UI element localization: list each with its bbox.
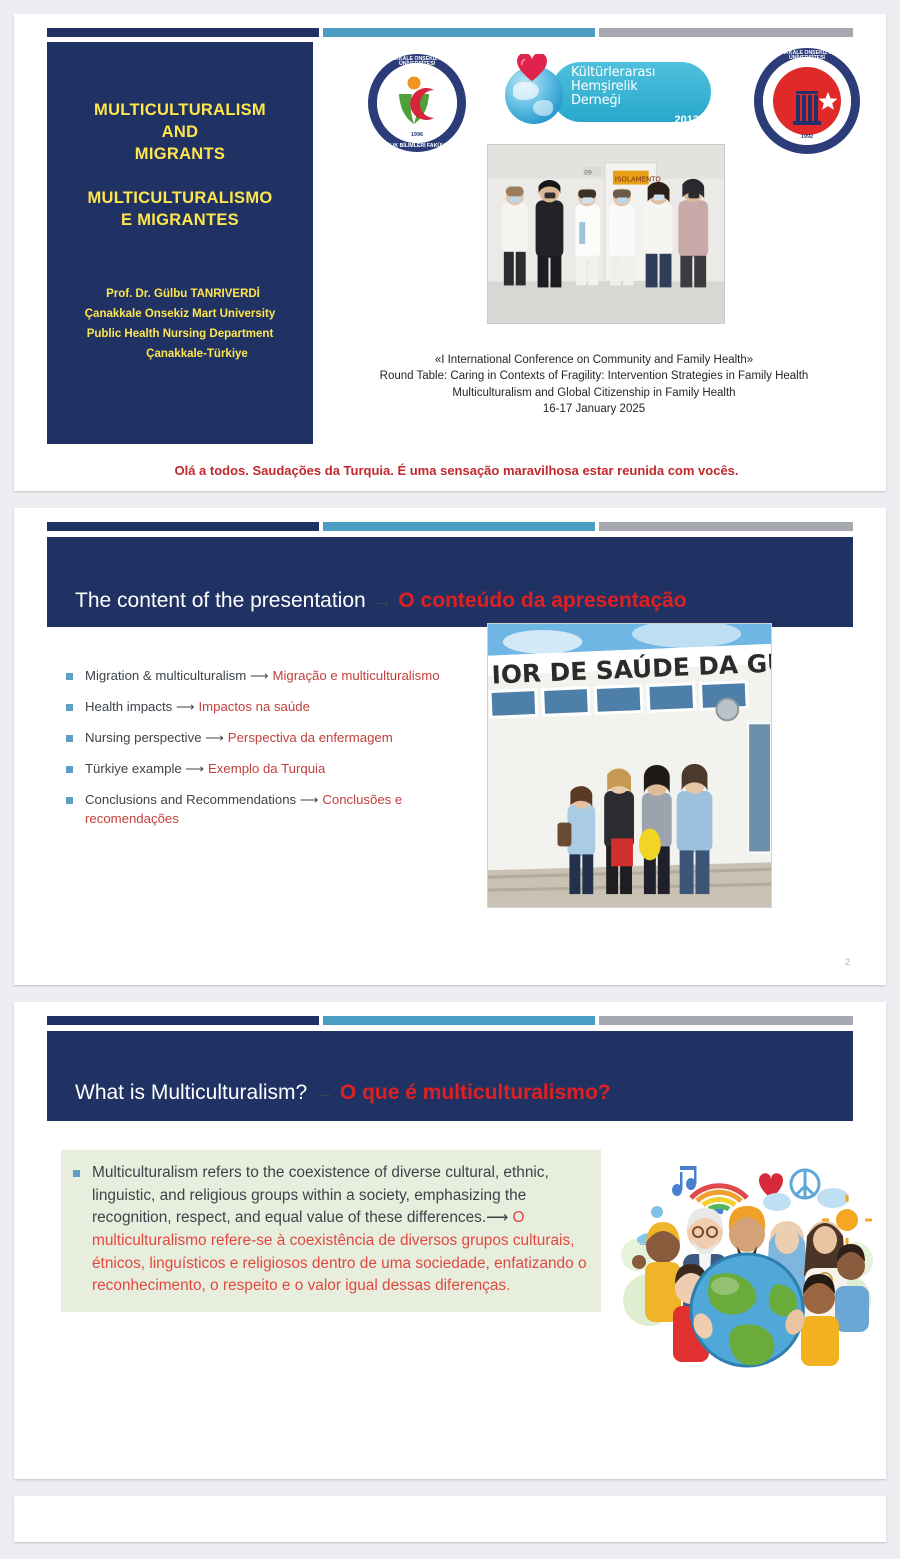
slide-title: What is Multiculturalism? → O que é mult…: [47, 1081, 853, 1105]
bullet-square-icon: [73, 1170, 80, 1177]
decorative-top-bars: [47, 28, 853, 37]
arrow-icon: ⟶: [205, 730, 228, 745]
seal-emblem: [763, 57, 851, 145]
top-bar-gray: [599, 1016, 853, 1025]
bullet-english: Conclusions and Recommendations: [85, 792, 300, 807]
definition-block: Multiculturalism refers to the coexisten…: [61, 1150, 601, 1312]
slide-header-band: The content of the presentation → O cont…: [47, 537, 853, 627]
author-department: Public Health Nursing Department: [61, 324, 299, 344]
multicultural-people-globe-illustration: ...: [619, 1150, 873, 1384]
slide-4-partial[interactable]: [14, 1496, 886, 1542]
top-bar-gray: [599, 28, 853, 37]
slide-header-band: What is Multiculturalism? → O que é mult…: [47, 1031, 853, 1121]
list-item: Migration & multiculturalism ⟶ Migração …: [66, 666, 486, 685]
top-bar-blue: [323, 1016, 595, 1025]
slide-3[interactable]: What is Multiculturalism? → O que é mult…: [14, 1002, 886, 1479]
top-bar-navy: [47, 1016, 319, 1025]
bullet-english: Türkiye example: [85, 761, 185, 776]
bullet-portuguese: Perspectiva da enfermagem: [228, 730, 393, 745]
title-panel: MULTICULTURALISM AND MIGRANTS MULTICULTU…: [47, 42, 313, 444]
association-name: Kültürlerarası Hemşirelik Derneği: [571, 66, 655, 108]
bullet-square-icon: [66, 735, 73, 742]
clinic-group-photo: ISOLAMENTO 09: [488, 145, 724, 323]
seal-year: 1992: [754, 134, 860, 140]
list-item-text: Health impacts ⟶ Impactos na saúde: [85, 697, 310, 716]
slide-title-portuguese: O conteúdo da apresentação: [398, 589, 686, 612]
list-item: Nursing perspective ⟶ Perspectiva da enf…: [66, 728, 486, 747]
bullet-portuguese: Exemplo da Turquia: [208, 761, 325, 776]
association-line: Kültürlerarası: [571, 66, 655, 80]
svg-text:09: 09: [584, 170, 592, 177]
title-english: MULTICULTURALISM AND MIGRANTS: [61, 100, 299, 166]
decorative-top-bars: [47, 1016, 853, 1025]
title-portuguese: MULTICULTURALISMO E MIGRANTES: [61, 188, 299, 232]
content-bullet-list: Migration & multiculturalism ⟶ Migração …: [66, 666, 486, 840]
arrow-icon: ⟶: [176, 699, 199, 714]
bullet-square-icon: [66, 797, 73, 804]
diversity-illustration: ...: [619, 1150, 873, 1384]
author-university: Çanakkale Onsekiz Mart University: [61, 304, 299, 324]
bullet-portuguese: Impactos na saúde: [198, 699, 309, 714]
top-bar-blue: [323, 28, 595, 37]
seal-emblem: [377, 63, 457, 143]
top-bar-gray: [599, 522, 853, 531]
definition-english: Multiculturalism refers to the coexisten…: [92, 1164, 549, 1226]
slide-title-english: What is Multiculturalism?: [75, 1081, 313, 1104]
association-line: Hemşirelik: [571, 80, 655, 94]
conference-line: Round Table: Caring in Contexts of Fragi…: [314, 368, 874, 384]
university-seal-logo: ÇANAKKALE ONSEKİZ MART ÜNİVERSİTESİ: [754, 48, 860, 154]
author-name: Prof. Dr. Gülbu TANRIVERDİ: [61, 284, 299, 304]
list-item-text: Nursing perspective ⟶ Perspectiva da enf…: [85, 728, 393, 747]
bullet-english: Nursing perspective: [85, 730, 205, 745]
slide-title-english: The content of the presentation: [75, 589, 372, 612]
health-centre-photo: IOR DE SAÚDE DA GUARD: [487, 623, 772, 908]
bullet-portuguese: Migração e multiculturalismo: [272, 668, 439, 683]
title-line: MIGRANTS: [61, 144, 299, 166]
bullet-square-icon: [66, 766, 73, 773]
arrow-icon: ⟶: [300, 792, 323, 807]
list-item: Health impacts ⟶ Impactos na saúde: [66, 697, 486, 716]
association-logo: Kültürlerarası Hemşirelik Derneği 2013: [499, 52, 711, 136]
conference-line: Multiculturalism and Global Citizenship …: [314, 385, 874, 401]
association-line: Derneği: [571, 94, 655, 108]
top-bar-blue: [323, 522, 595, 531]
seal-bottom-text: SAĞLIK BİLİMLERİ FAKÜLTESİ: [368, 144, 466, 149]
author-block: Prof. Dr. Gülbu TANRIVERDİ Çanakkale Ons…: [61, 284, 299, 365]
page-number: 2: [845, 957, 850, 967]
guarda-health-centre-photo: IOR DE SAÚDE DA GUARD: [488, 624, 771, 907]
seal-year: 1996: [368, 132, 466, 138]
top-bar-navy: [47, 522, 319, 531]
title-line: MULTICULTURALISMO: [61, 188, 299, 210]
list-item: Conclusions and Recommendations ⟶ Conclu…: [66, 790, 486, 828]
list-item-text: Türkiye example ⟶ Exemplo da Turquia: [85, 759, 325, 778]
arrow-icon: →: [313, 1081, 340, 1104]
arrow-icon: ⟶: [185, 761, 208, 776]
arrow-icon: ⟶: [486, 1209, 512, 1226]
arrow-icon: →: [372, 589, 399, 612]
author-location: Çanakkale-Türkiye: [61, 344, 299, 364]
title-line: AND: [61, 122, 299, 144]
conference-date: 16-17 January 2025: [314, 401, 874, 417]
greeting-text: Olá a todos. Saudações da Turquia. É uma…: [47, 463, 866, 478]
svg-text:...: ...: [639, 1238, 647, 1247]
conference-line: «I International Conference on Community…: [314, 352, 874, 368]
definition-text: Multiculturalism refers to the coexisten…: [92, 1162, 587, 1298]
conference-info: «I International Conference on Community…: [314, 352, 874, 417]
heart-icon: [517, 54, 547, 82]
top-bar-navy: [47, 28, 319, 37]
arrow-icon: ⟶: [250, 668, 273, 683]
university-emblem-icon: [771, 65, 843, 137]
list-item: Türkiye example ⟶ Exemplo da Turquia: [66, 759, 486, 778]
list-item-text: Conclusions and Recommendations ⟶ Conclu…: [85, 790, 486, 828]
bullet-square-icon: [66, 673, 73, 680]
association-year: 2013: [675, 114, 699, 126]
faculty-seal-logo: ÇANAKKALE ONSEKİZ MART ÜNİVERSİTESİ SAĞL…: [368, 54, 466, 152]
bullet-square-icon: [66, 704, 73, 711]
slide-1[interactable]: MULTICULTURALISM AND MIGRANTS MULTICULTU…: [14, 14, 886, 491]
faculty-emblem-icon: [386, 72, 448, 134]
decorative-top-bars: [47, 522, 853, 531]
slide-2[interactable]: The content of the presentation → O cont…: [14, 508, 886, 985]
slide-title: The content of the presentation → O cont…: [47, 589, 853, 613]
bullet-english: Health impacts: [85, 699, 176, 714]
bullet-english: Migration & multiculturalism: [85, 668, 250, 683]
title-line: E MIGRANTES: [61, 210, 299, 232]
list-item-text: Migration & multiculturalism ⟶ Migração …: [85, 666, 440, 685]
conference-photo: ISOLAMENTO 09: [487, 144, 725, 324]
title-line: MULTICULTURALISM: [61, 100, 299, 122]
slide-title-portuguese: O que é multiculturalismo?: [340, 1081, 611, 1104]
